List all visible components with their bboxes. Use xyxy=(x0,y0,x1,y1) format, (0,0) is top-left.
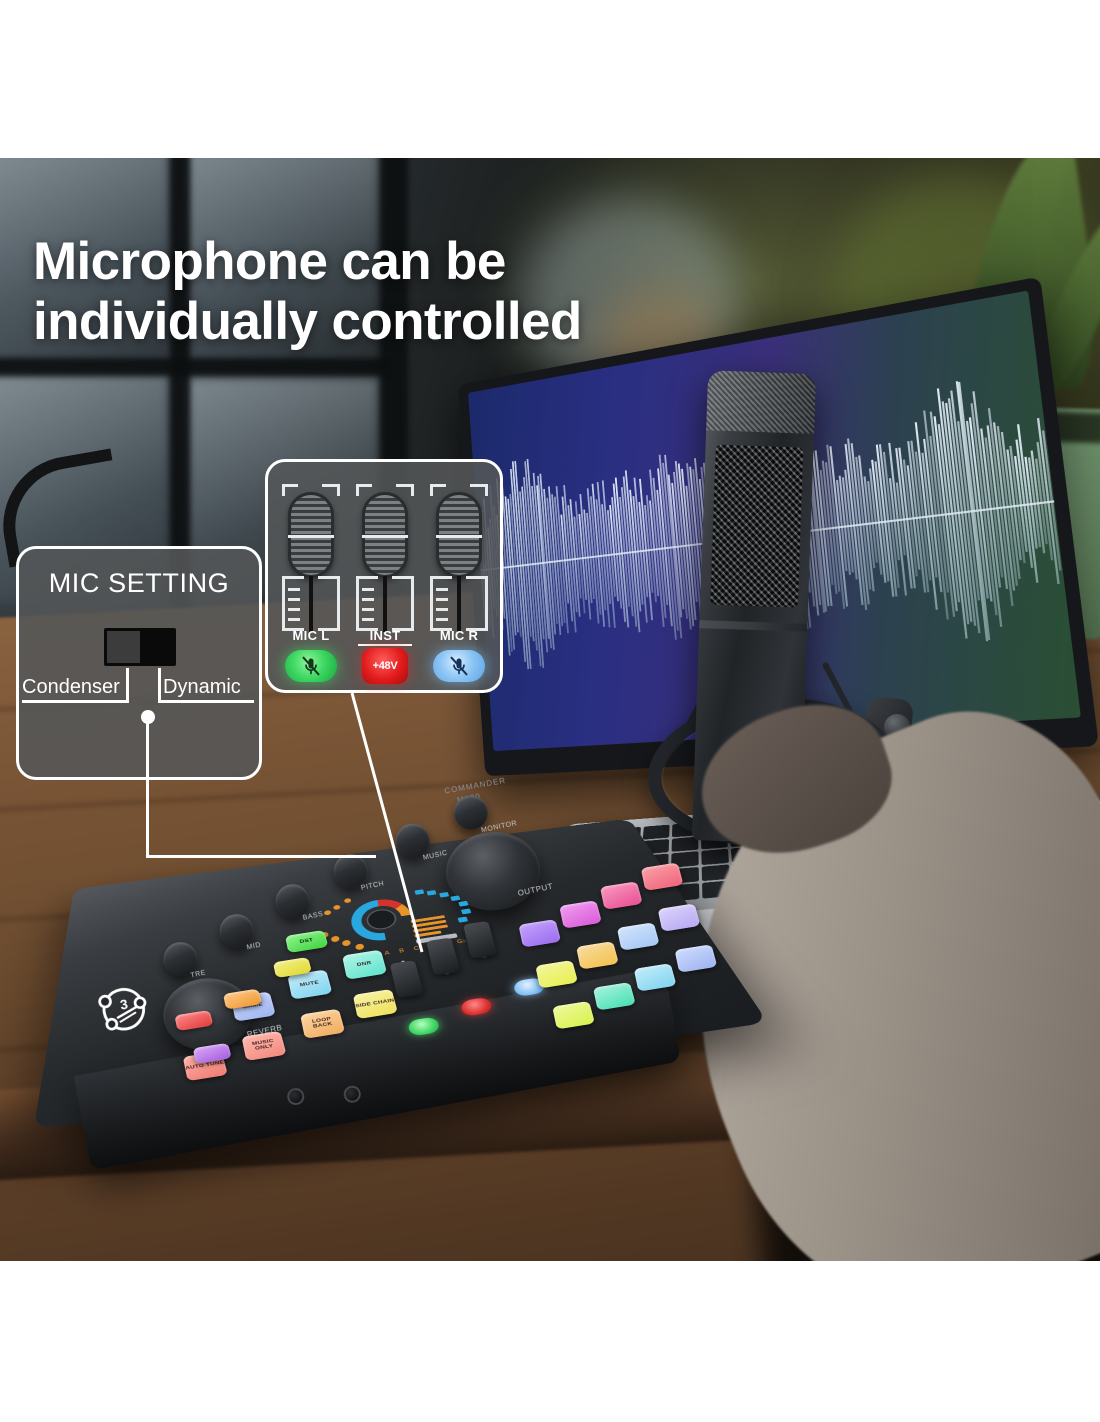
fader-scale xyxy=(362,598,374,601)
bracket-condenser-vertical xyxy=(126,668,129,702)
fader-scale-top-left xyxy=(282,576,304,579)
fader-column-inst xyxy=(354,476,416,636)
fader-label-mic-r: MIC R xyxy=(428,628,490,643)
fader-scale xyxy=(282,576,285,630)
brand-logo-icon: 3 xyxy=(93,978,156,1041)
fader-scale xyxy=(362,618,374,621)
toggle-half-dynamic[interactable] xyxy=(140,631,173,663)
fader-scale-top-left xyxy=(430,576,452,579)
fader-scale xyxy=(337,576,340,630)
svg-text:B: B xyxy=(399,948,405,954)
svg-text:C: C xyxy=(413,946,420,952)
fader-button-mic-r[interactable] xyxy=(433,650,485,682)
fader-scale-top-left xyxy=(356,576,378,579)
fader-column-mic-r xyxy=(428,476,490,636)
bracket-dynamic-vertical xyxy=(158,668,161,702)
label-condenser: Condenser xyxy=(22,676,120,699)
bracket-dynamic-horizontal xyxy=(158,700,254,703)
fader-scale xyxy=(362,608,374,611)
headline-line-1: Microphone can be xyxy=(33,232,582,292)
callout-mic-setting-lead-horizontal xyxy=(146,855,376,858)
window-frame xyxy=(0,358,390,376)
mic-mute-icon xyxy=(449,656,469,676)
fader-scale xyxy=(356,576,359,630)
fader-scale xyxy=(436,588,448,591)
label-dynamic: Dynamic xyxy=(163,676,241,699)
fader-cap-inst[interactable] xyxy=(362,492,408,578)
fader-scale xyxy=(430,576,433,630)
fader-stem xyxy=(309,576,313,632)
fader-cap-mic-l[interactable] xyxy=(288,492,334,578)
fader-scale xyxy=(436,608,448,611)
microphone-grille xyxy=(710,445,804,608)
headline-line-2: individually controlled xyxy=(33,292,582,352)
knob-monitor[interactable] xyxy=(453,794,489,830)
bracket-condenser-horizontal xyxy=(22,700,129,703)
fader-cap-mic-r[interactable] xyxy=(436,492,482,578)
callout-mic-setting-lead-vertical xyxy=(146,720,149,857)
fader-scale xyxy=(362,588,374,591)
fader-tick xyxy=(337,484,340,496)
fader-stem xyxy=(383,576,387,632)
fader-scale xyxy=(436,618,448,621)
microphone-top-cap xyxy=(706,370,816,434)
svg-text:A: A xyxy=(384,951,390,957)
headphone-jack-2[interactable] xyxy=(342,1084,362,1104)
page-title: Microphone can be individually controlle… xyxy=(33,232,582,353)
callout-mic-setting-title: MIC SETTING xyxy=(16,568,262,599)
fader-scale xyxy=(288,598,300,601)
product-feature-image: 3 COMMANDER M100 TRE MID BASS PITCH MUSI… xyxy=(0,0,1100,1422)
mic-mute-icon xyxy=(301,656,321,676)
fader-label-inst: INST xyxy=(354,628,416,643)
audio-mixer-device[interactable]: 3 COMMANDER M100 TRE MID BASS PITCH MUSI… xyxy=(39,746,730,1261)
fader-stem xyxy=(457,576,461,632)
fader-scale xyxy=(485,576,488,630)
fader-button-phantom-power[interactable]: +48V xyxy=(362,648,408,684)
inst-underline xyxy=(358,644,412,646)
toggle-half-condenser[interactable] xyxy=(107,631,140,663)
fader-tick xyxy=(282,484,285,496)
fader-scale xyxy=(288,618,300,621)
fader-tick xyxy=(430,484,433,496)
fader-column-mic-l xyxy=(280,476,342,636)
mic-type-toggle[interactable] xyxy=(104,628,176,666)
fader-label-mic-l: MIC L xyxy=(280,628,342,643)
callout-fader-controls: MIC L INST MIC R +48V xyxy=(265,459,503,693)
fader-scale xyxy=(436,598,448,601)
fader-tick xyxy=(356,484,359,496)
fader-tick xyxy=(485,484,488,496)
fader-scale xyxy=(288,608,300,611)
headphone-jack-1[interactable] xyxy=(286,1087,306,1107)
fader-scale xyxy=(411,576,414,630)
svg-text:3: 3 xyxy=(119,996,129,1012)
fader-tick xyxy=(411,484,414,496)
fader-scale xyxy=(288,588,300,591)
fader-button-mic-l[interactable] xyxy=(285,650,337,682)
rgb-pad[interactable] xyxy=(641,862,684,890)
microphone-ring xyxy=(699,620,807,632)
